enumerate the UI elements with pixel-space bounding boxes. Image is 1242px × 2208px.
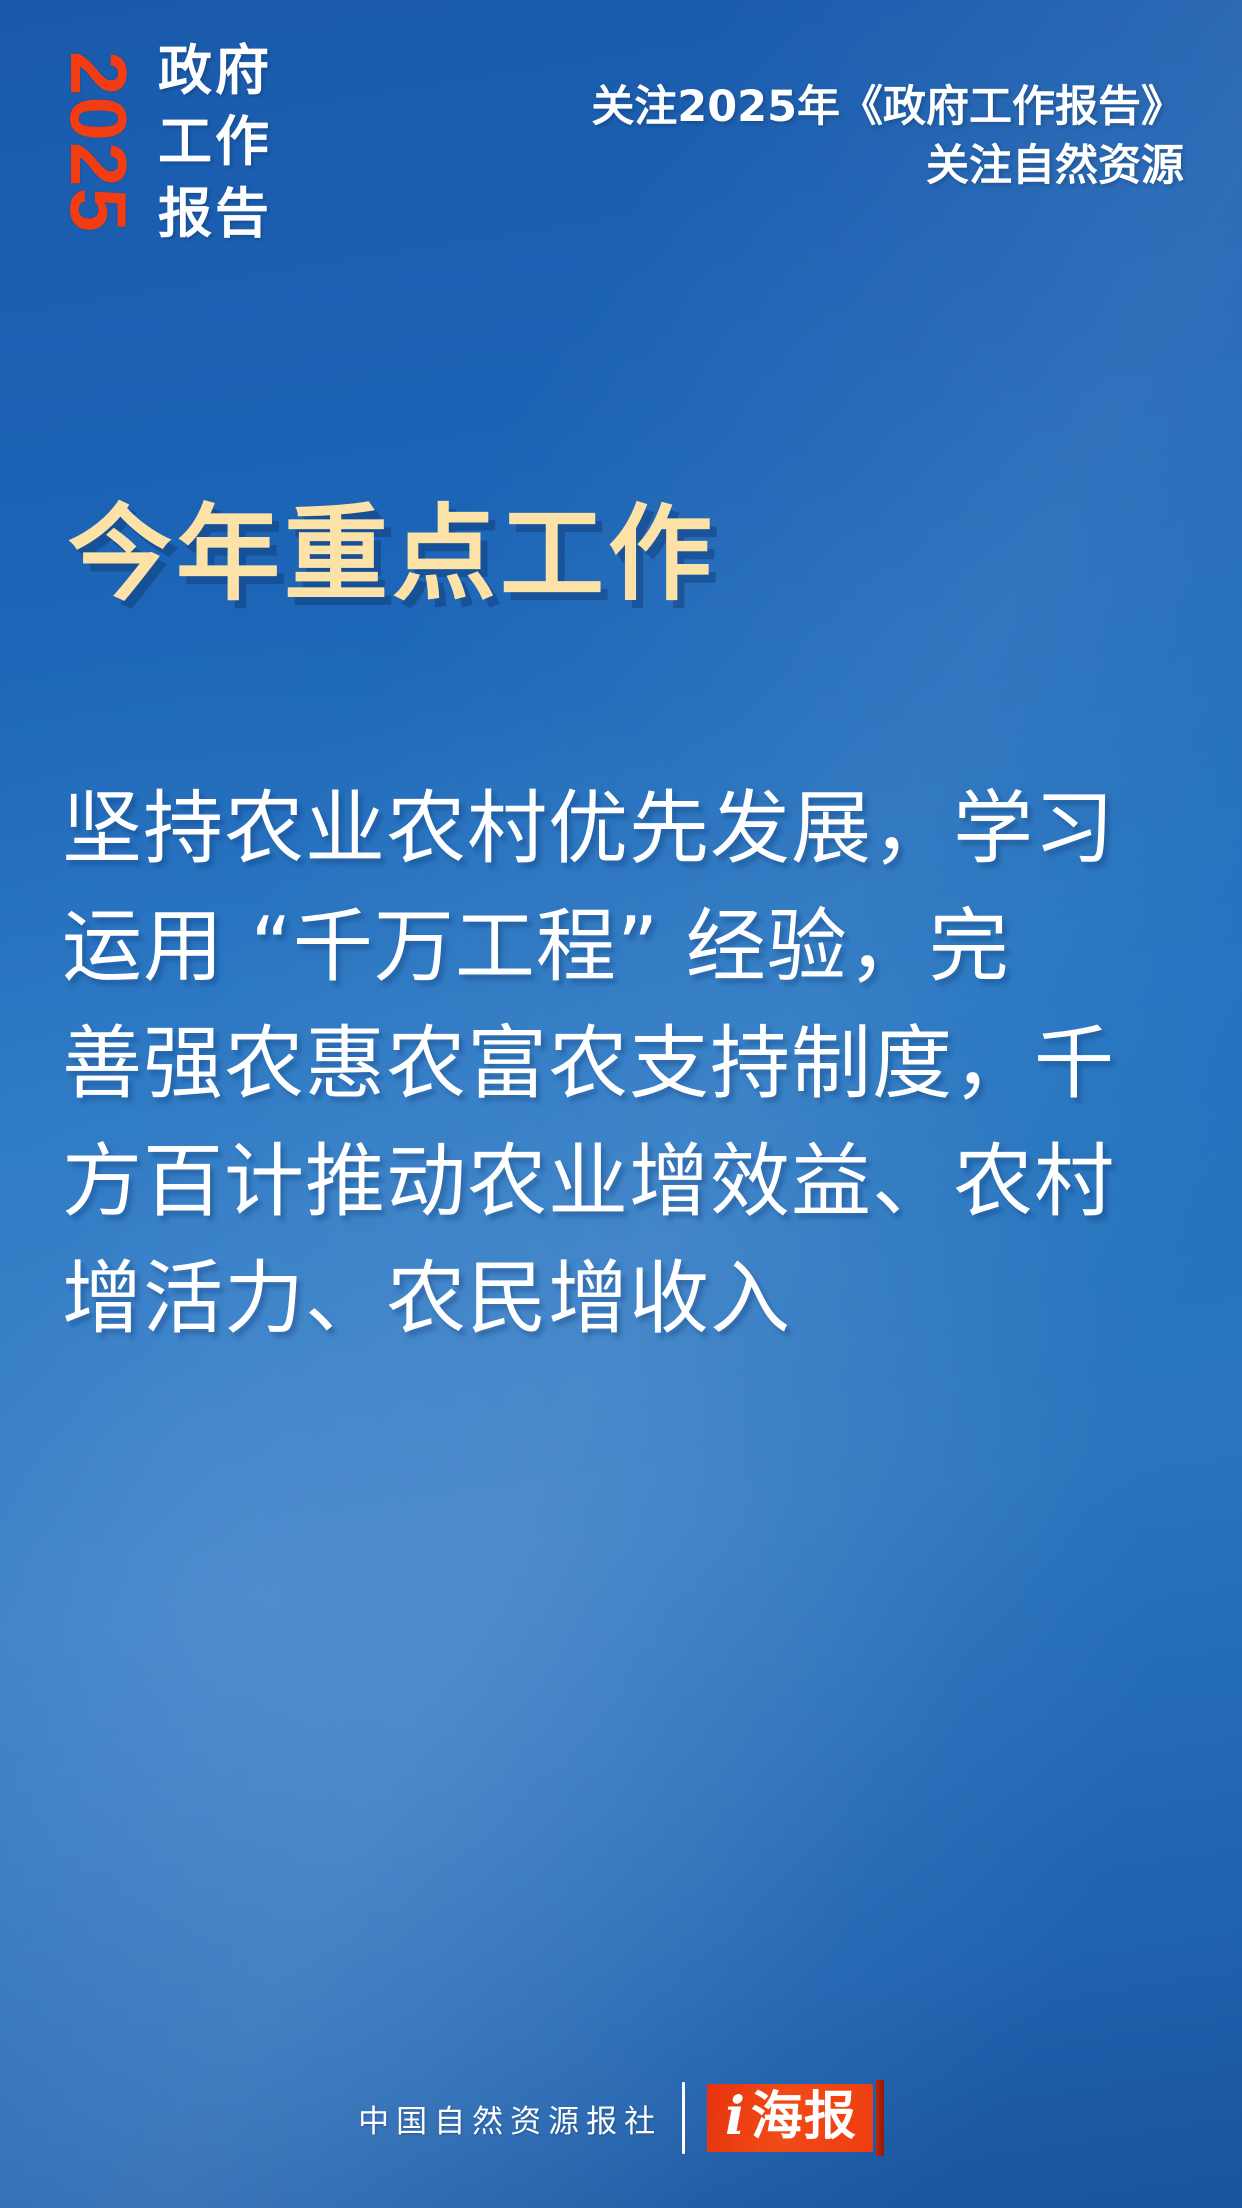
ihaibao-logo-i: i bbox=[721, 2091, 747, 2143]
year-badge-text: 2025 bbox=[58, 51, 138, 233]
footer-divider bbox=[682, 2082, 685, 2154]
page-title: 今年重点工作 bbox=[68, 496, 716, 612]
ihaibao-logo-stripe bbox=[876, 2080, 884, 2156]
body-line-1: 坚持农业农村优先发展，学习 bbox=[62, 770, 1192, 888]
poster-footer: 中国自然资源报社 i 海报 bbox=[0, 2080, 1242, 2156]
publisher-name: 中国自然资源报社 bbox=[358, 2096, 662, 2141]
ihaibao-logo-text: 海报 bbox=[751, 2091, 857, 2143]
brand-title-line-2: 工作 bbox=[158, 113, 272, 170]
body-line-2: 运用 “千万工程” 经验，完 bbox=[62, 888, 1192, 1006]
header-subtitle-block: 关注2025年《政府工作报告》 关注自然资源 bbox=[591, 78, 1184, 197]
header-subtitle-line-1: 关注2025年《政府工作报告》 bbox=[591, 78, 1184, 137]
brand-title-line-3: 报告 bbox=[158, 185, 272, 242]
brand-title-block: 政府 工作 报告 bbox=[158, 42, 272, 242]
body-copy: 坚持农业农村优先发展，学习 运用 “千万工程” 经验，完 善强农惠农富农支持制度… bbox=[62, 770, 1192, 1358]
brand-lockup: 2025 政府 工作 报告 bbox=[52, 42, 272, 242]
poster-header: 2025 政府 工作 报告 关注2025年《政府工作报告》 关注自然资源 bbox=[0, 0, 1242, 300]
brand-title-line-1: 政府 bbox=[158, 42, 272, 99]
body-line-3: 善强农惠农富农支持制度，千 bbox=[62, 1005, 1192, 1123]
poster-root: 2025 政府 工作 报告 关注2025年《政府工作报告》 关注自然资源 今年重… bbox=[0, 0, 1242, 2208]
ihaibao-logo: i 海报 bbox=[707, 2080, 884, 2156]
body-line-5: 增活力、农民增收入 bbox=[62, 1240, 1192, 1358]
body-line-4: 方百计推动农业增效益、农村 bbox=[62, 1123, 1192, 1241]
ihaibao-logo-box: i 海报 bbox=[707, 2084, 873, 2152]
header-subtitle-line-2: 关注自然资源 bbox=[591, 137, 1184, 196]
year-badge: 2025 bbox=[52, 42, 144, 242]
